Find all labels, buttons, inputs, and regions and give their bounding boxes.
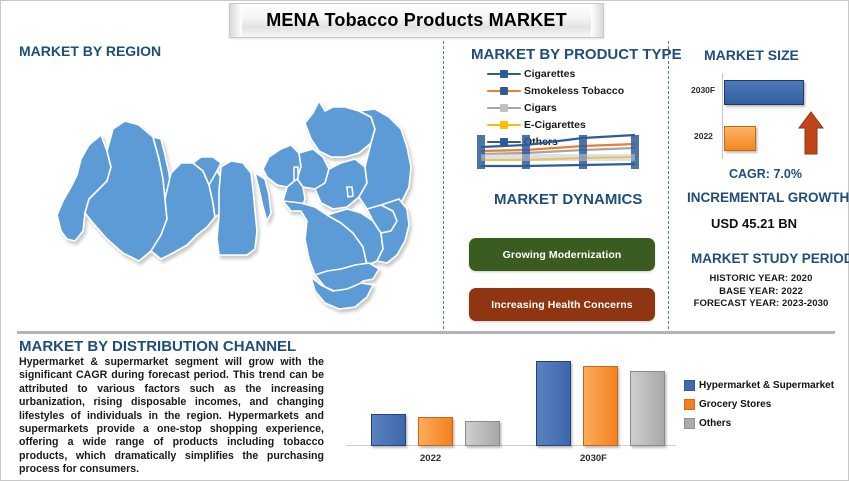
legend-item: Smokeless Tobacco xyxy=(487,82,667,99)
legend-item: Grocery Stores xyxy=(684,395,844,414)
bar-2030f-others xyxy=(630,371,665,446)
bar-2022-grocery xyxy=(418,417,453,446)
legend-swatch-icon xyxy=(684,380,695,391)
study-period-block: HISTORIC YEAR: 2020 BASE YEAR: 2022 FORE… xyxy=(677,273,845,311)
divider-vertical-right xyxy=(668,41,669,329)
market-size-chart: 2030F 2022 xyxy=(691,73,841,161)
market-size-category-label: 2030F xyxy=(691,85,715,95)
legend-swatch-icon xyxy=(684,418,695,429)
market-size-bar-2022 xyxy=(724,126,756,151)
title-banner: MENA Tobacco Products MARKET xyxy=(229,3,604,38)
legend-item: E-Cigarettes xyxy=(487,116,667,133)
legend-item: Cigars xyxy=(487,99,667,116)
bar-2022-others xyxy=(465,421,500,446)
legend-label: Cigars xyxy=(524,102,557,114)
study-period-forecast: FORECAST YEAR: 2023-2030 xyxy=(677,298,845,311)
legend-marker-icon xyxy=(487,102,521,114)
divider-vertical-left xyxy=(443,41,444,329)
section-heading-incremental-growth: INCREMENTAL GROWTH xyxy=(687,190,849,205)
map-svg xyxy=(15,63,435,325)
legend-marker-icon xyxy=(487,85,521,97)
distribution-channel-paragraph: Hypermarket & supermarket segment will g… xyxy=(19,356,324,477)
legend-label: Cigarettes xyxy=(524,68,575,80)
infographic-page: MENA Tobacco Products MARKET MARKET BY R… xyxy=(0,0,849,481)
section-heading-region: MARKET BY REGION xyxy=(19,43,161,59)
legend-item: Others xyxy=(684,414,844,433)
legend-label: Hypermarket & Supermarket xyxy=(699,380,834,391)
mena-region-map xyxy=(15,63,435,325)
market-size-bar-2030f xyxy=(724,80,804,105)
study-period-historic: HISTORIC YEAR: 2020 xyxy=(677,273,845,286)
legend-item: Hypermarket & Supermarket xyxy=(684,376,844,395)
bar-2030f-grocery xyxy=(583,366,618,446)
growth-arrow-icon xyxy=(798,111,824,155)
section-heading-product-type: MARKET BY PRODUCT TYPE xyxy=(471,46,682,63)
section-heading-study-period: MARKET STUDY PERIOD xyxy=(691,251,849,266)
legend-label: E-Cigarettes xyxy=(524,119,586,131)
distribution-channel-legend: Hypermarket & Supermarket Grocery Stores… xyxy=(684,376,844,433)
legend-label: Smokeless Tobacco xyxy=(524,85,624,97)
section-heading-market-dynamics: MARKET DYNAMICS xyxy=(494,191,642,208)
bar-chart-xlabel-2022: 2022 xyxy=(420,453,441,464)
section-heading-distribution-channel: MARKET BY DISTRIBUTION CHANNEL xyxy=(19,338,296,355)
legend-label: Others xyxy=(699,418,731,429)
dynamics-restraint-label: Increasing Health Concerns xyxy=(491,299,632,311)
dynamics-restraint-pill[interactable]: Increasing Health Concerns xyxy=(469,288,655,321)
legend-marker-icon xyxy=(487,119,521,131)
legend-item: Cigarettes xyxy=(487,65,667,82)
bar-chart-xlabel-2030f: 2030F xyxy=(580,453,607,464)
legend-swatch-icon xyxy=(684,399,695,410)
incremental-growth-value: USD 45.21 BN xyxy=(711,216,797,231)
legend-marker-icon xyxy=(487,68,521,80)
dynamics-driver-pill[interactable]: Growing Modernization xyxy=(469,238,655,271)
bar-2022-hypermarket xyxy=(371,414,406,446)
line-chart-svg xyxy=(475,133,641,171)
legend-label: Grocery Stores xyxy=(699,399,771,410)
product-type-line-chart xyxy=(475,133,641,171)
study-period-base: BASE YEAR: 2022 xyxy=(677,286,845,299)
section-heading-market-size: MARKET SIZE xyxy=(704,47,799,63)
cagr-label: CAGR: 7.0% xyxy=(729,167,802,181)
bar-2030f-hypermarket xyxy=(536,361,571,446)
distribution-channel-bar-chart: 2022 2030F xyxy=(346,363,676,468)
market-size-category-label: 2022 xyxy=(694,131,713,141)
dynamics-driver-label: Growing Modernization xyxy=(503,249,622,261)
page-title: MENA Tobacco Products MARKET xyxy=(266,10,567,31)
divider-horizontal xyxy=(17,331,835,334)
